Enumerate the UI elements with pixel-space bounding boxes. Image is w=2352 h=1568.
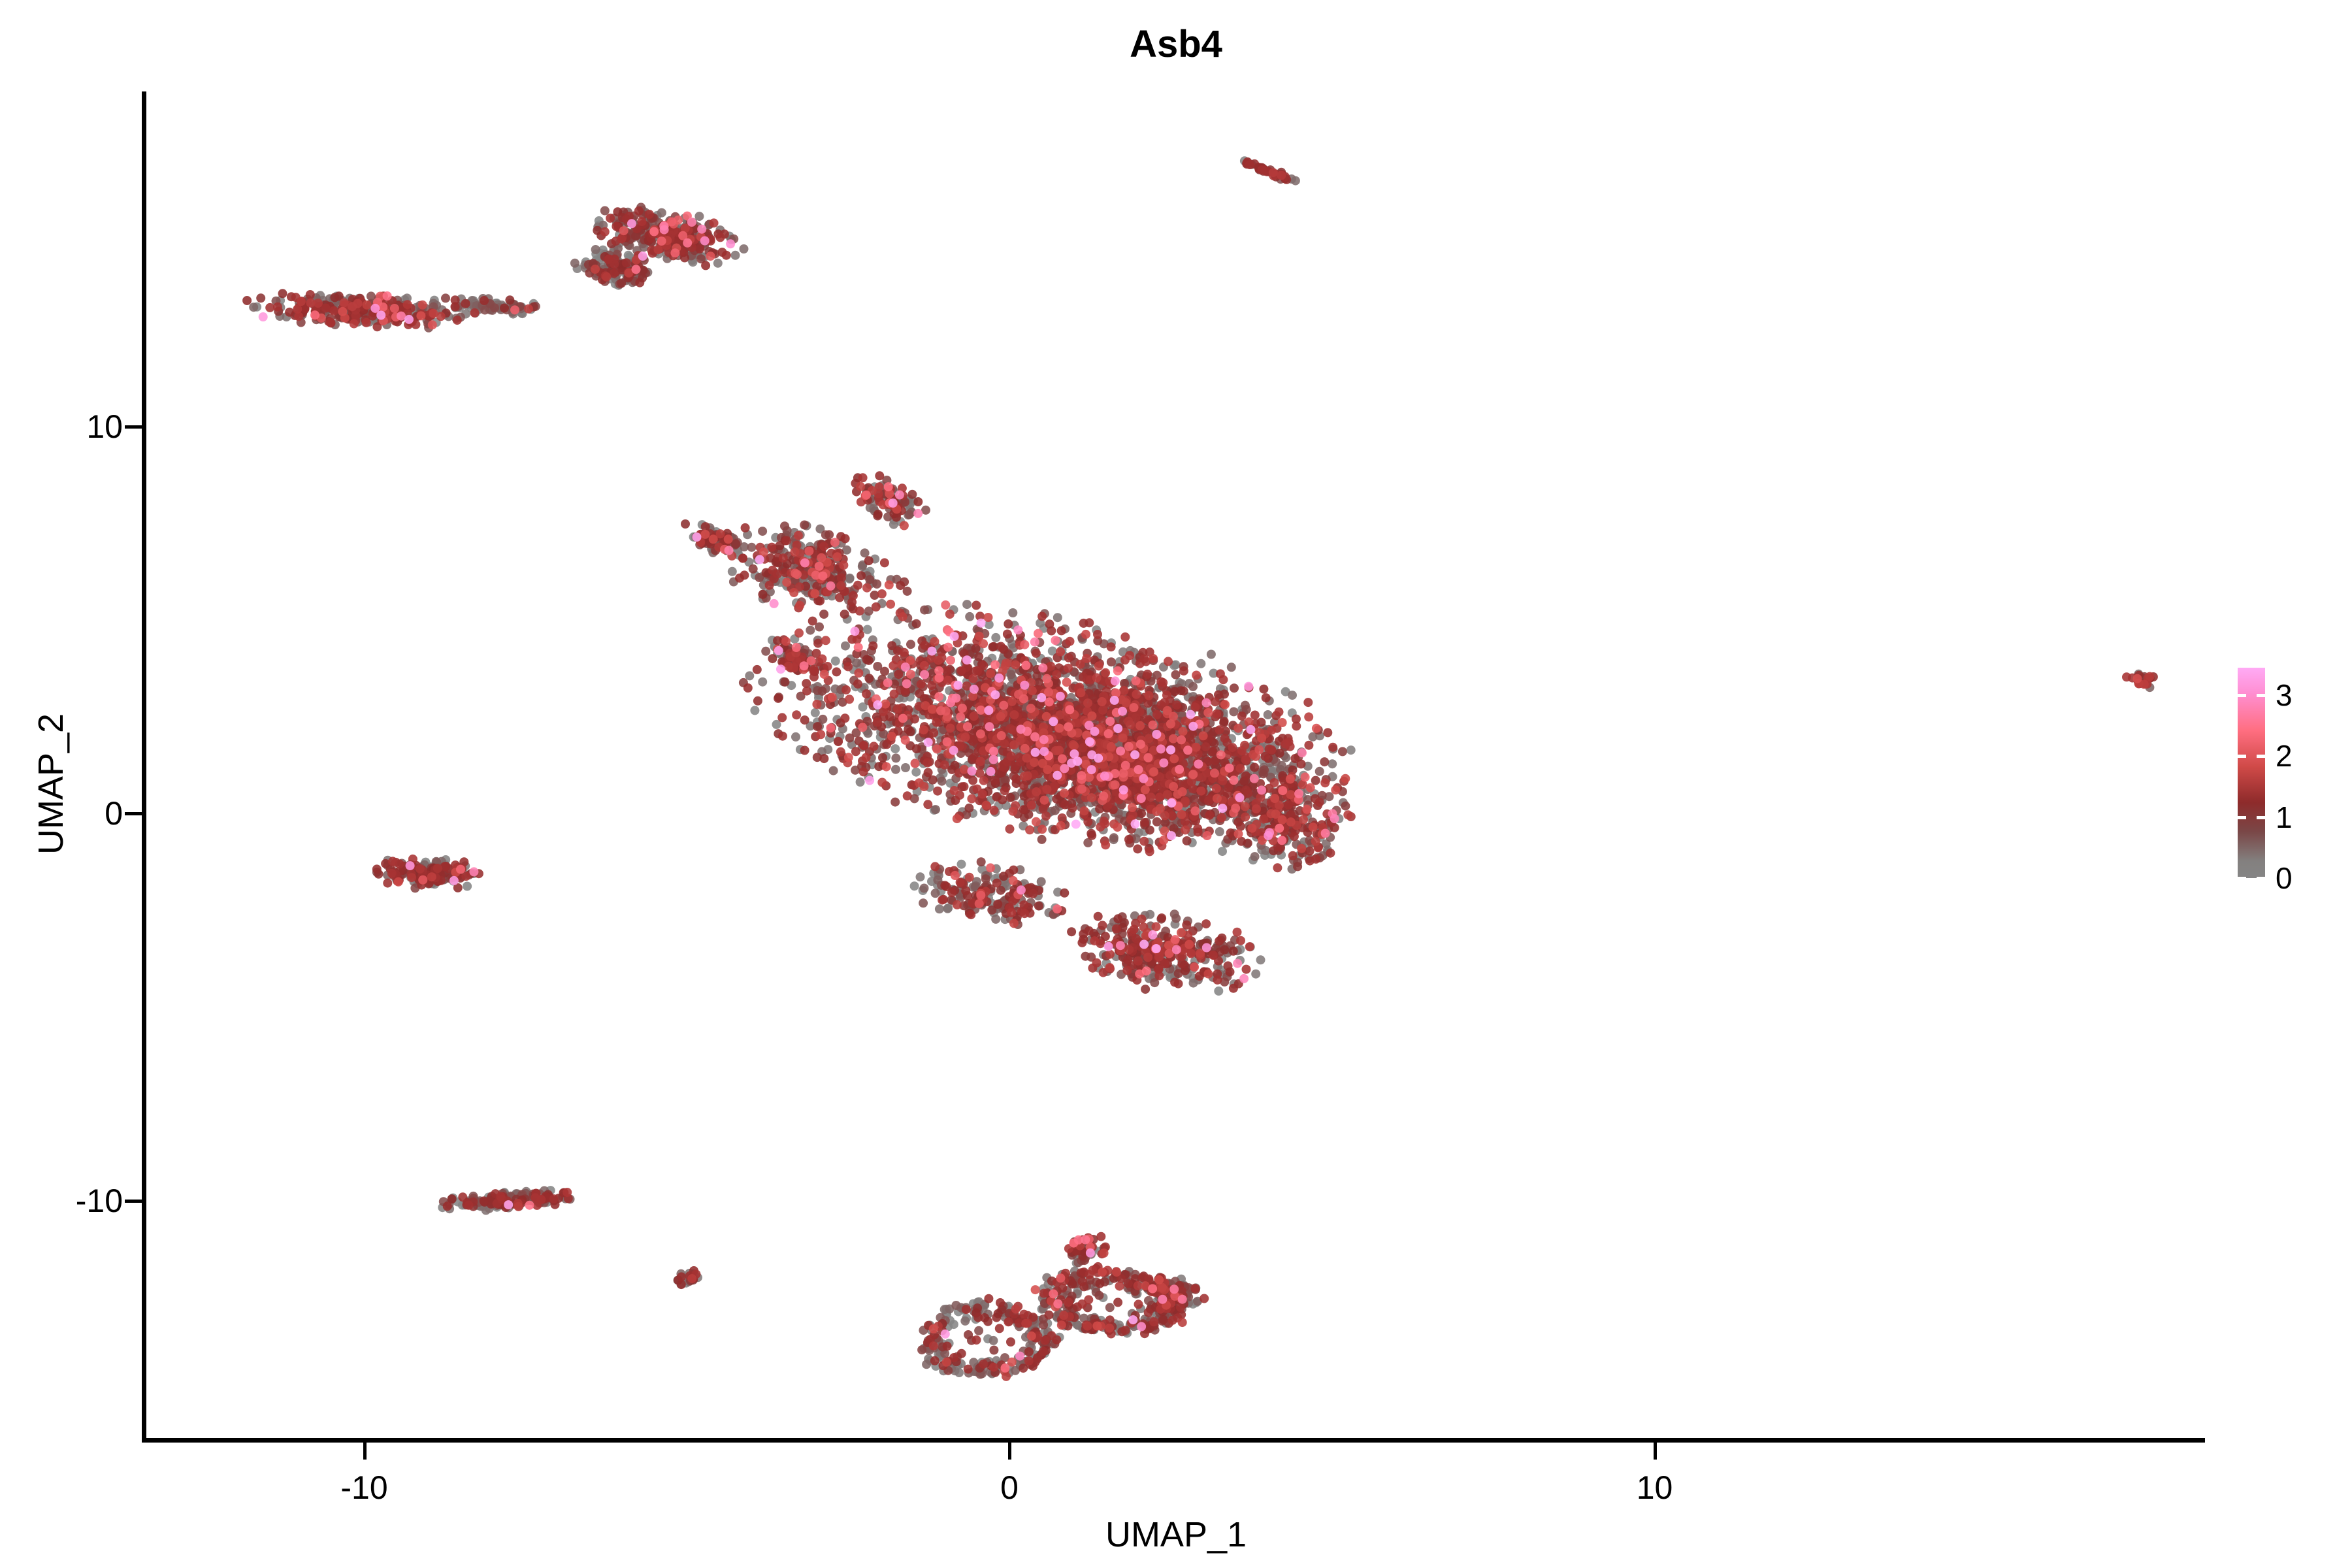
page-title: Asb4 <box>0 22 2352 66</box>
plot-panel <box>144 91 2205 1441</box>
feature-plot-root: Asb4 -10010 100-10 UMAP_1 UMAP_2 3210 <box>0 0 2352 1568</box>
